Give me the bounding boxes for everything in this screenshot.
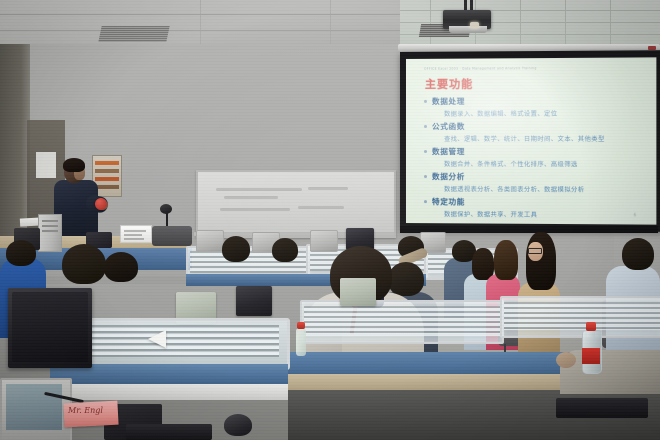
attendee-head — [622, 238, 654, 270]
computer-tower — [38, 214, 62, 252]
ceiling-seam-vertical — [330, 0, 331, 46]
ceiling-seam-vertical — [200, 0, 201, 46]
student-head — [222, 236, 250, 262]
presenter-hair — [63, 158, 85, 172]
wall-notice-paper — [36, 152, 56, 178]
attendee-hand — [556, 352, 576, 368]
student-head — [62, 244, 106, 284]
keyboard — [126, 424, 212, 440]
soda-bottle-cap — [586, 322, 596, 331]
monitor-screen — [12, 292, 88, 362]
attendee-long-hair — [526, 232, 556, 290]
slide-bullet-heading: 数据处理 — [432, 96, 465, 107]
monitor-screen — [6, 384, 62, 430]
water-bottle — [296, 328, 306, 356]
projector-housing — [449, 26, 487, 33]
desk-glass-partition — [300, 300, 504, 344]
slide-bullet-detail: 数据透视表分析、各类图表分析、数据模拟分析 — [444, 184, 584, 194]
slide-title: 主要功能 — [425, 76, 473, 92]
microphone-icon — [160, 204, 172, 214]
pink-desk-label-text: Mr. Engl — [68, 406, 114, 415]
student-head — [272, 238, 298, 262]
ceiling-grid-right — [400, 0, 660, 46]
projector-lens-icon — [470, 22, 479, 28]
slide-bullet-detail: 数据合并、条件格式、个性化排序、高级筛选 — [444, 159, 578, 168]
paper-airplane — [148, 330, 166, 348]
monitor — [196, 230, 224, 252]
student-head — [104, 252, 138, 282]
slide-bullet-detail: 数据保护、数据共享、开发工具 — [444, 209, 537, 219]
classroom-photo-scene: OFFICE Excel 2003 · Data Management and … — [0, 0, 660, 440]
slide-bullet-heading: 数据管理 — [432, 146, 465, 157]
eyeglasses-icon — [528, 248, 542, 254]
red-handheld-object — [95, 198, 107, 210]
desk-glass-partition — [500, 296, 660, 338]
soda-bottle-label — [582, 348, 600, 364]
attendee-hair — [494, 240, 518, 280]
slide-page-number: 6 — [634, 212, 637, 217]
chair-back — [152, 226, 192, 246]
computer-mouse — [224, 414, 252, 436]
foreground-desk-white-panel — [50, 384, 288, 400]
student-head — [6, 240, 36, 266]
keyboard — [556, 398, 648, 418]
desk-name-card — [120, 225, 152, 243]
monitor — [310, 230, 338, 252]
attendee-head — [388, 262, 424, 296]
monitor — [236, 286, 272, 316]
slide-bullet-detail: 查找、逻辑、数学、统计、日期时间、文本、其他类型 — [444, 134, 605, 143]
slide-bullet-heading: 数据分析 — [432, 171, 465, 182]
monitor-screen-lit — [340, 278, 376, 306]
ceiling-vent-icon — [98, 26, 169, 42]
slide-header-text: OFFICE Excel 2003 · Data Management and … — [424, 66, 627, 73]
projection-screen: OFFICE Excel 2003 · Data Management and … — [400, 50, 660, 232]
bottle-cap — [297, 322, 305, 329]
presentation-slide: OFFICE Excel 2003 · Data Management and … — [406, 57, 656, 224]
slide-bullet-heading: 特定功能 — [432, 196, 465, 207]
slide-bullet-detail: 数据录入、数据编辑、格式设置、定位 — [444, 109, 557, 118]
slide-bullet-heading: 公式函数 — [432, 121, 465, 132]
soda-bottle-neck — [587, 330, 595, 337]
